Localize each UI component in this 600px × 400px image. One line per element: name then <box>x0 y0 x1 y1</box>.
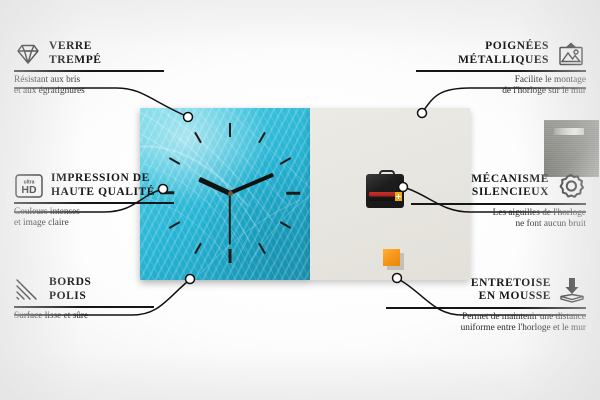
callout-subtitle: Les aiguilles de l'horloge ne font aucun… <box>411 208 586 231</box>
clock-face <box>160 123 300 263</box>
callout-entretoise-en-mousse[interactable]: ENTRETOISE EN MOUSSE Permet de maintenir… <box>386 276 586 334</box>
callout-divider <box>386 307 586 309</box>
callout-subtitle: Permet de maintenir une distance uniform… <box>386 312 586 335</box>
clock-tick-11 <box>194 132 202 143</box>
clock-mechanism <box>366 170 404 208</box>
foam-spacer <box>383 249 400 266</box>
clock-tick-4 <box>280 221 291 229</box>
callout-bords-polis[interactable]: BORDS POLIS Surface lisse et sûre <box>14 276 154 322</box>
callout-poignees-metalliques[interactable]: POIGNÉES MÉTALLIQUES Facilite le montage… <box>416 40 586 97</box>
clock-center-pin <box>228 191 233 196</box>
clock-tick-7 <box>194 243 202 254</box>
clock-tick-10 <box>169 157 180 165</box>
second-hand <box>229 193 231 245</box>
callout-impression-haute-qualite[interactable]: ultra HD IMPRESSION DE HAUTE QUALITÉ Cou… <box>14 172 174 229</box>
callout-title: VERRE TREMPÉ <box>49 40 102 67</box>
callout-title: MÉCANISME SILENCIEUX <box>471 173 549 200</box>
infographic-canvas: VERRE TREMPÉ Résistant aux bris et aux é… <box>0 0 600 400</box>
callout-title: IMPRESSION DE HAUTE QUALITÉ <box>51 172 155 199</box>
callout-title: ENTRETOISE EN MOUSSE <box>471 277 551 304</box>
callout-header: ENTRETOISE EN MOUSSE <box>386 276 586 304</box>
callout-title: BORDS POLIS <box>49 276 91 303</box>
arrow-down-to-pad-icon <box>558 276 586 304</box>
battery-plus-terminal <box>395 192 402 201</box>
ultra-hd-badge-icon: ultra HD <box>14 173 44 199</box>
clock-tick-12 <box>229 123 232 137</box>
callout-divider <box>14 70 164 72</box>
callout-subtitle: Surface lisse et sûre <box>14 311 154 322</box>
callout-header: VERRE TREMPÉ <box>14 40 164 67</box>
hanger-slot <box>554 128 584 135</box>
callout-divider <box>14 202 174 204</box>
callout-subtitle: Facilite le montage de l'horloge sur le … <box>416 75 586 98</box>
callout-subtitle: Résistant aux bris et aux égratignures <box>14 75 164 98</box>
clock-tick-1 <box>258 132 266 143</box>
callout-subtitle: Couleurs intenses et image claire <box>14 207 174 230</box>
callout-title: POIGNÉES MÉTALLIQUES <box>458 40 549 67</box>
diamond-icon <box>14 42 42 66</box>
callout-verre-trempe[interactable]: VERRE TREMPÉ Résistant aux bris et aux é… <box>14 40 164 97</box>
callout-divider <box>411 203 586 205</box>
callout-divider <box>14 306 154 308</box>
metal-hanger-plate <box>544 120 599 177</box>
hanging-picture-frame-icon <box>556 41 586 67</box>
minute-hand <box>229 173 274 195</box>
callout-header: MÉCANISME SILENCIEUX <box>411 172 586 200</box>
clock-tick-3 <box>286 192 300 195</box>
ultra-hd-badge-main-text: HD <box>21 184 37 196</box>
callout-header: ultra HD IMPRESSION DE HAUTE QUALITÉ <box>14 172 174 199</box>
callout-header: BORDS POLIS <box>14 276 154 303</box>
hour-hand <box>198 176 231 195</box>
callout-header: POIGNÉES MÉTALLIQUES <box>416 40 586 67</box>
polished-edge-lines-icon <box>14 278 42 302</box>
callout-mecanisme-silencieux[interactable]: MÉCANISME SILENCIEUX Les aiguilles de l'… <box>411 172 586 230</box>
callout-divider <box>416 70 586 72</box>
clock-tick-2 <box>280 157 291 165</box>
gear-icon <box>556 172 586 200</box>
clock-tick-6 <box>229 249 232 263</box>
clock-tick-5 <box>258 243 266 254</box>
mechanism-body <box>366 174 404 208</box>
